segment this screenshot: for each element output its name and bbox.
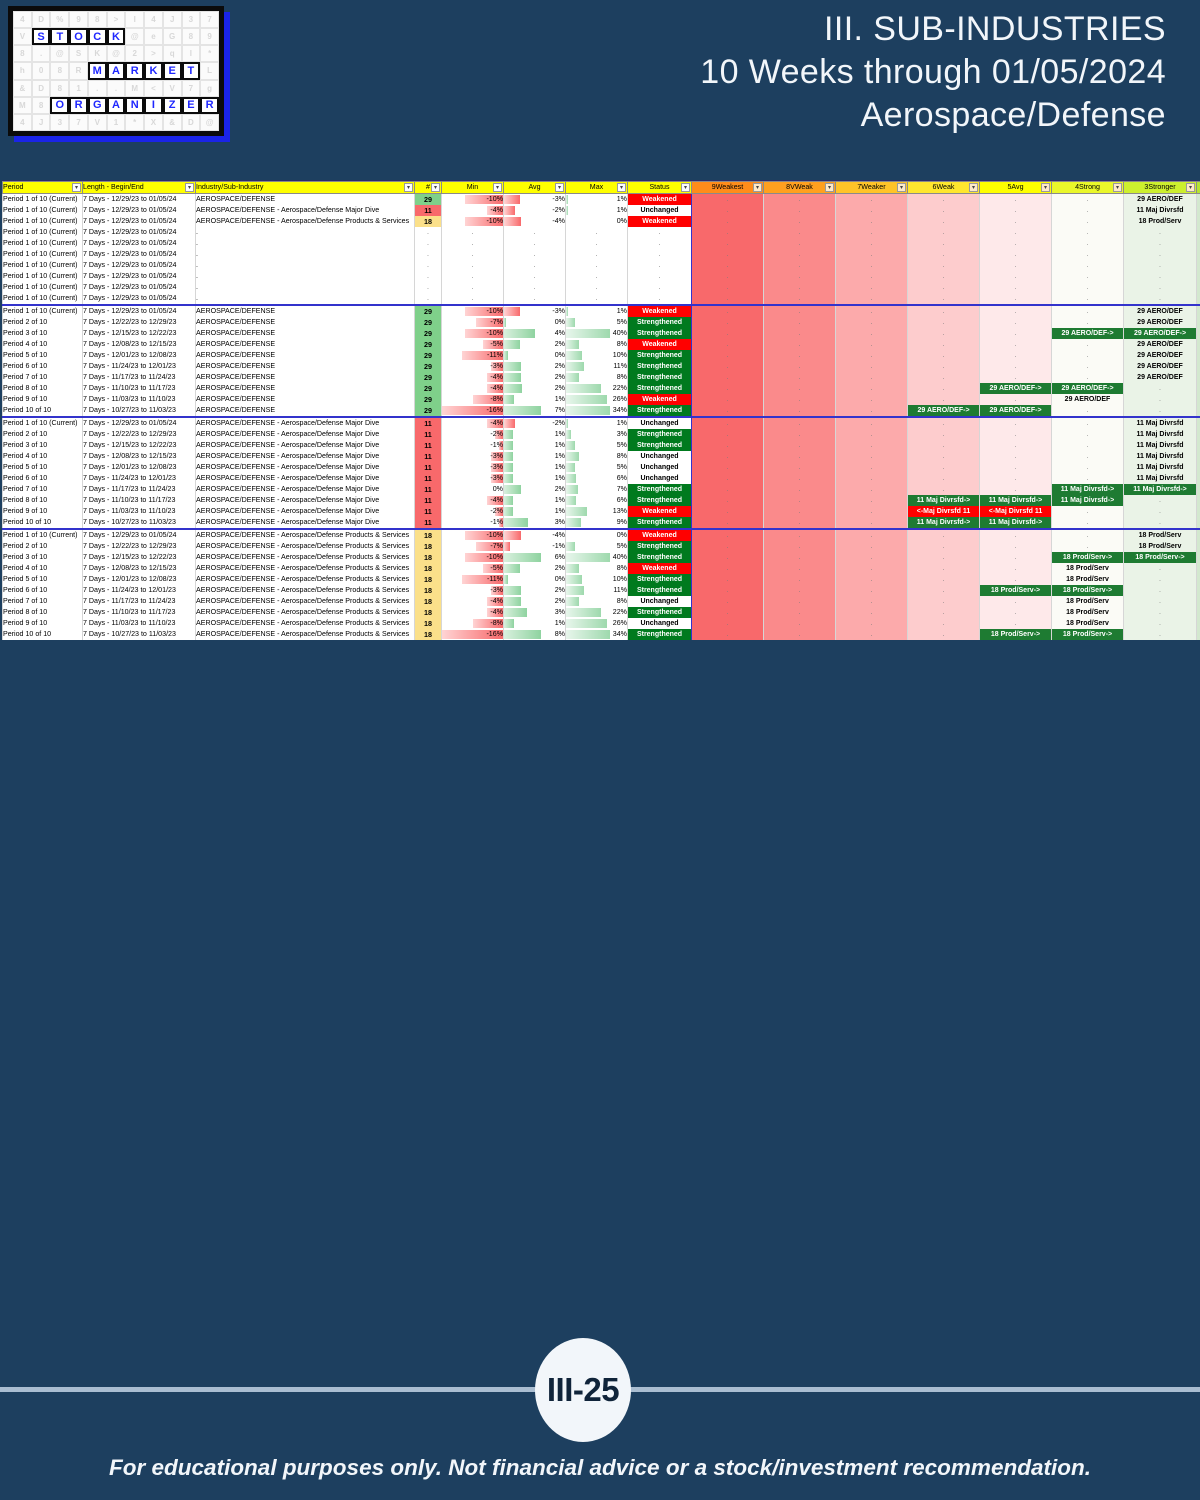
table-row[interactable]: Period 9 of 107 Days - 11/03/23 to 11/10…: [3, 394, 1200, 405]
cell-status: Strengthened: [628, 484, 692, 495]
logo-filler-cell: 9: [69, 11, 88, 28]
cell-status: Strengthened: [628, 607, 692, 618]
strength-cell-s9: .: [692, 260, 764, 271]
status-badge: Strengthened: [628, 552, 691, 563]
filter-dropdown-icon[interactable]: ▾: [897, 183, 906, 192]
strength-cell-s3: .: [1124, 383, 1197, 394]
filter-dropdown-icon[interactable]: ▾: [1041, 183, 1050, 192]
strength-tag: 11 Maj Divrsfd: [1124, 473, 1196, 484]
column-header-industry[interactable]: Industry/Sub-Industry▾: [196, 182, 415, 194]
max-value: 9%: [617, 518, 627, 526]
strength-cell-s2: .: [1197, 440, 1200, 451]
strength-cell-s4: .: [1052, 361, 1124, 372]
strength-cell-s2: .: [1197, 249, 1200, 260]
cell-max: 0%: [566, 529, 628, 541]
cell-min: .: [442, 238, 504, 249]
analysis-table[interactable]: Period▾Length - Begin/End▾Industry/Sub-I…: [2, 181, 1200, 640]
cell-count: 29: [415, 305, 442, 317]
max-data-bar: [566, 575, 582, 584]
logo-filler-cell: h: [13, 62, 32, 79]
status-badge: .: [628, 260, 691, 271]
count-chip: 18: [415, 596, 441, 607]
avg-data-bar: [504, 597, 521, 606]
logo-letter-cell: N: [125, 97, 144, 114]
logo-filler-cell: 7: [200, 11, 219, 28]
column-header-label: 3Stronger: [1144, 183, 1175, 191]
max-value: 5%: [617, 463, 627, 471]
strength-tag: 18 Prod/Serv: [1124, 530, 1196, 541]
count-chip: 18: [415, 618, 441, 629]
column-header-status[interactable]: Status▾: [628, 182, 692, 194]
strength-cell-s6: .: [908, 429, 980, 440]
strength-cell-s6: 29 AERO/DEF->: [908, 405, 980, 417]
cell-max: 13%: [566, 506, 628, 517]
column-header-length[interactable]: Length - Begin/End▾: [83, 182, 196, 194]
cell-industry: AEROSPACE/DEFENSE - Aerospace/Defense Pr…: [196, 529, 415, 541]
logo-filler-cell: *: [125, 114, 144, 131]
strength-cell-s9: .: [692, 484, 764, 495]
strength-cell-s4: 11 Maj Divrsfd->: [1052, 484, 1124, 495]
table-row[interactable]: Period 3 of 107 Days - 12/15/23 to 12/22…: [3, 440, 1200, 451]
strength-cell-s8: .: [764, 394, 836, 405]
spreadsheet-panel[interactable]: Period▾Length - Begin/End▾Industry/Sub-I…: [2, 180, 1198, 640]
table-row[interactable]: Period 1 of 10 (Current)7 Days - 12/29/2…: [3, 417, 1200, 429]
filter-dropdown-icon[interactable]: ▾: [969, 183, 978, 192]
strength-cell-s9: .: [692, 473, 764, 484]
count-chip: 11: [415, 205, 441, 216]
count-chip: .: [415, 282, 441, 293]
count-chip: 29: [415, 350, 441, 361]
strength-cell-s7: .: [836, 216, 908, 227]
strength-cell-s2: .: [1197, 473, 1200, 484]
table-row[interactable]: Period 6 of 107 Days - 11/24/23 to 12/01…: [3, 473, 1200, 484]
strength-tag: 11 Maj Divrsfd->: [980, 517, 1051, 528]
avg-data-bar: [504, 630, 541, 639]
cell-max: 11%: [566, 585, 628, 596]
title-line-period: 10 Weeks through 01/05/2024: [700, 51, 1166, 94]
strength-cell-s5: .: [980, 440, 1052, 451]
status-badge: Strengthened: [628, 350, 691, 361]
table-row[interactable]: Period 1 of 10 (Current)7 Days - 12/29/2…: [3, 305, 1200, 317]
cell-max: 8%: [566, 451, 628, 462]
cell-status: Strengthened: [628, 495, 692, 506]
strength-cell-s8: .: [764, 205, 836, 216]
strength-cell-s6: .: [908, 260, 980, 271]
cell-industry: AEROSPACE/DEFENSE - Aerospace/Defense Ma…: [196, 473, 415, 484]
cell-count: 18: [415, 629, 442, 640]
logo-filler-cell: J: [32, 114, 51, 131]
cell-min: -2%: [442, 429, 504, 440]
table-row[interactable]: Period 6 of 107 Days - 11/24/23 to 12/01…: [3, 361, 1200, 372]
strength-cell-s6: .: [908, 484, 980, 495]
cell-period: Period 4 of 10: [3, 339, 83, 350]
cell-status: Strengthened: [628, 552, 692, 563]
cell-max: 6%: [566, 495, 628, 506]
cell-avg: 8%: [504, 629, 566, 640]
strength-column-header-s3[interactable]: 3Stronger▾: [1124, 182, 1197, 194]
table-row[interactable]: Period 4 of 107 Days - 12/08/23 to 12/15…: [3, 563, 1200, 574]
cell-status: .: [628, 271, 692, 282]
cell-count: .: [415, 249, 442, 260]
strength-tag: 29 AERO/DEF: [1124, 372, 1196, 383]
strength-cell-s7: .: [836, 238, 908, 249]
table-row[interactable]: Period 1 of 10 (Current)7 Days - 12/29/2…: [3, 238, 1200, 249]
avg-value: 1%: [555, 507, 565, 515]
logo-filler-cell: 8: [13, 45, 32, 62]
cell-count: 29: [415, 350, 442, 361]
table-row[interactable]: Period 4 of 107 Days - 12/08/23 to 12/15…: [3, 339, 1200, 350]
cell-period: Period 10 of 10: [3, 629, 83, 640]
strength-tag: 18 Prod/Serv->: [980, 585, 1051, 596]
strength-cell-s6: .: [908, 383, 980, 394]
strength-column-header-s7[interactable]: 7Weaker▾: [836, 182, 908, 194]
strength-tag: 18 Prod/Serv->: [1052, 629, 1123, 640]
cell-max: 8%: [566, 563, 628, 574]
cell-max: 0%: [566, 216, 628, 227]
max-value: 8%: [617, 452, 627, 460]
strength-cell-s4: .: [1052, 451, 1124, 462]
status-badge: Unchanged: [628, 205, 691, 216]
table-row[interactable]: Period 1 of 10 (Current)7 Days - 12/29/2…: [3, 293, 1200, 305]
table-row[interactable]: Period 1 of 10 (Current)7 Days - 12/29/2…: [3, 227, 1200, 238]
column-header-label: 4Strong: [1075, 183, 1100, 191]
cell-count: 18: [415, 585, 442, 596]
table-row[interactable]: Period 6 of 107 Days - 11/24/23 to 12/01…: [3, 585, 1200, 596]
cell-period: Period 1 of 10 (Current): [3, 249, 83, 260]
table-row[interactable]: Period 2 of 107 Days - 12/22/23 to 12/29…: [3, 317, 1200, 328]
cell-status: Weakened: [628, 563, 692, 574]
filter-dropdown-icon[interactable]: ▾: [72, 183, 81, 192]
table-row[interactable]: Period 7 of 107 Days - 11/17/23 to 11/24…: [3, 596, 1200, 607]
cell-industry: AEROSPACE/DEFENSE - Aerospace/Defense Ma…: [196, 429, 415, 440]
strength-cell-s3: 29 AERO/DEF: [1124, 350, 1197, 361]
cell-industry: AEROSPACE/DEFENSE: [196, 317, 415, 328]
strength-cell-s8: .: [764, 462, 836, 473]
cell-count: 18: [415, 607, 442, 618]
strength-tag: 29 AERO/DEF: [1124, 306, 1196, 317]
max-value: 1%: [617, 307, 627, 315]
cell-avg: -3%: [504, 305, 566, 317]
cell-max: 8%: [566, 339, 628, 350]
strength-cell-s8: .: [764, 517, 836, 529]
table-row[interactable]: Period 5 of 107 Days - 12/01/23 to 12/08…: [3, 462, 1200, 473]
column-header-label: Avg: [528, 183, 540, 191]
strength-cell-s2: .: [1197, 405, 1200, 417]
cell-max: 1%: [566, 417, 628, 429]
table-row[interactable]: Period 1 of 10 (Current)7 Days - 12/29/2…: [3, 271, 1200, 282]
strength-cell-s3: 11 Maj Divrsfd: [1124, 462, 1197, 473]
table-row[interactable]: Period 3 of 107 Days - 12/15/23 to 12/22…: [3, 328, 1200, 339]
cell-status: Weakened: [628, 339, 692, 350]
status-badge: Weakened: [628, 339, 691, 350]
cell-length: 7 Days - 12/29/23 to 01/05/24: [83, 417, 196, 429]
cell-count: 11: [415, 517, 442, 529]
cell-period: Period 9 of 10: [3, 618, 83, 629]
strength-column-header-s2[interactable]: 2VStrong▾: [1197, 182, 1200, 194]
strength-tag: <-Maj Divrsfd 11: [980, 506, 1051, 517]
status-badge: Strengthened: [628, 607, 691, 618]
cell-industry: AEROSPACE/DEFENSE: [196, 350, 415, 361]
logo-filler-cell: .: [88, 80, 107, 97]
table-row[interactable]: Period 8 of 107 Days - 11/10/23 to 11/17…: [3, 495, 1200, 506]
strength-cell-s9: .: [692, 249, 764, 260]
strength-column-header-s8[interactable]: 8VWeak▾: [764, 182, 836, 194]
strength-cell-s3: 29 AERO/DEF->: [1124, 328, 1197, 339]
avg-data-bar: [504, 206, 515, 215]
strength-column-header-s4[interactable]: 4Strong▾: [1052, 182, 1124, 194]
cell-status: Strengthened: [628, 585, 692, 596]
strength-cell-s9: .: [692, 227, 764, 238]
cell-industry: AEROSPACE/DEFENSE - Aerospace/Defense Ma…: [196, 440, 415, 451]
table-row[interactable]: Period 7 of 107 Days - 11/17/23 to 11/24…: [3, 372, 1200, 383]
strength-cell-s6: .: [908, 585, 980, 596]
strength-cell-s9: .: [692, 350, 764, 361]
cell-max: 11%: [566, 361, 628, 372]
min-value: -5%: [490, 564, 503, 572]
cell-count: 11: [415, 440, 442, 451]
filter-dropdown-icon[interactable]: ▾: [1186, 183, 1195, 192]
status-badge: Strengthened: [628, 361, 691, 372]
table-row[interactable]: Period 10 of 107 Days - 10/27/23 to 11/0…: [3, 405, 1200, 417]
max-value: 11%: [613, 586, 627, 594]
strength-cell-s2: .: [1197, 328, 1200, 339]
cell-period: Period 7 of 10: [3, 484, 83, 495]
avg-value: -2%: [552, 206, 565, 214]
logo-filler-cell: M: [13, 97, 32, 114]
status-badge: Weakened: [628, 306, 691, 317]
column-header-label: Max: [590, 183, 603, 191]
cell-avg: 2%: [504, 339, 566, 350]
header-row[interactable]: Period▾Length - Begin/End▾Industry/Sub-I…: [3, 182, 1200, 194]
max-value: 5%: [617, 542, 627, 550]
cell-max: 34%: [566, 405, 628, 417]
cell-length: 7 Days - 11/17/23 to 11/24/23: [83, 372, 196, 383]
strength-cell-s6: .: [908, 271, 980, 282]
cell-industry: .: [196, 282, 415, 293]
cell-period: Period 3 of 10: [3, 440, 83, 451]
column-header-period[interactable]: Period▾: [3, 182, 83, 194]
count-chip: 18: [415, 563, 441, 574]
strength-cell-s3: .: [1124, 596, 1197, 607]
table-row[interactable]: Period 1 of 10 (Current)7 Days - 12/29/2…: [3, 194, 1200, 206]
table-row[interactable]: Period 2 of 107 Days - 12/22/23 to 12/29…: [3, 541, 1200, 552]
table-row[interactable]: Period 2 of 107 Days - 12/22/23 to 12/29…: [3, 429, 1200, 440]
strength-cell-s7: .: [836, 383, 908, 394]
table-row[interactable]: Period 1 of 10 (Current)7 Days - 12/29/2…: [3, 249, 1200, 260]
strength-cell-s4: 18 Prod/Serv->: [1052, 629, 1124, 640]
cell-industry: AEROSPACE/DEFENSE: [196, 339, 415, 350]
status-badge: Unchanged: [628, 451, 691, 462]
filter-dropdown-icon[interactable]: ▾: [681, 183, 690, 192]
strength-tag: 11 Maj Divrsfd->: [1052, 495, 1123, 506]
strength-cell-s4: 18 Prod/Serv: [1052, 563, 1124, 574]
cell-count: 18: [415, 541, 442, 552]
status-badge: Strengthened: [628, 574, 691, 585]
strength-cell-s2: .: [1197, 293, 1200, 305]
logo-letter-cell: O: [69, 28, 88, 45]
logo-filler-cell: D: [182, 114, 201, 131]
cell-industry: AEROSPACE/DEFENSE - Aerospace/Defense Ma…: [196, 495, 415, 506]
strength-cell-s4: .: [1052, 517, 1124, 529]
cell-length: 7 Days - 12/01/23 to 12/08/23: [83, 350, 196, 361]
cell-min: -5%: [442, 563, 504, 574]
strength-tag: 18 Prod/Serv->: [980, 629, 1051, 640]
table-row[interactable]: Period 9 of 107 Days - 11/03/23 to 11/10…: [3, 506, 1200, 517]
cell-min: -1%: [442, 440, 504, 451]
strength-cell-s3: 29 AERO/DEF: [1124, 317, 1197, 328]
count-chip: 11: [415, 473, 441, 484]
strength-tag: 18 Prod/Serv->: [1052, 552, 1123, 563]
strength-cell-s6: .: [908, 596, 980, 607]
strength-column-header-s5[interactable]: 5Avg▾: [980, 182, 1052, 194]
avg-data-bar: [504, 496, 513, 505]
cell-length: 7 Days - 11/17/23 to 11/24/23: [83, 484, 196, 495]
strength-column-header-s6[interactable]: 6Weak▾: [908, 182, 980, 194]
count-chip: 29: [415, 405, 441, 416]
min-value: -4%: [490, 496, 503, 504]
logo-filler-cell: M: [125, 80, 144, 97]
table-row[interactable]: Period 1 of 10 (Current)7 Days - 12/29/2…: [3, 260, 1200, 271]
cell-max: 7%: [566, 484, 628, 495]
table-row[interactable]: Period 5 of 107 Days - 12/01/23 to 12/08…: [3, 574, 1200, 585]
table-body[interactable]: Period 1 of 10 (Current)7 Days - 12/29/2…: [3, 194, 1200, 641]
strength-cell-s9: .: [692, 495, 764, 506]
filter-dropdown-icon[interactable]: ▾: [825, 183, 834, 192]
cell-status: Strengthened: [628, 541, 692, 552]
status-badge: Unchanged: [628, 462, 691, 473]
strength-cell-s2: .: [1197, 618, 1200, 629]
cell-count: 18: [415, 574, 442, 585]
column-header-min[interactable]: Min▾: [442, 182, 504, 194]
cell-industry: AEROSPACE/DEFENSE: [196, 372, 415, 383]
cell-avg: -4%: [504, 529, 566, 541]
cell-avg: 1%: [504, 506, 566, 517]
avg-value: 1%: [555, 430, 565, 438]
table-row[interactable]: Period 10 of 107 Days - 10/27/23 to 11/0…: [3, 629, 1200, 640]
status-badge: .: [628, 227, 691, 238]
cell-status: Unchanged: [628, 618, 692, 629]
min-value: -11%: [487, 575, 503, 583]
filter-dropdown-icon[interactable]: ▾: [431, 183, 440, 192]
avg-data-bar: [504, 452, 513, 461]
logo-filler-cell: V: [13, 28, 32, 45]
cell-min: -2%: [442, 506, 504, 517]
strength-cell-s8: .: [764, 350, 836, 361]
strength-tag: 11 Maj Divrsfd->: [908, 517, 979, 528]
cell-period: Period 4 of 10: [3, 563, 83, 574]
cell-status: Unchanged: [628, 417, 692, 429]
logo-letter-cell: R: [125, 62, 144, 79]
strength-cell-s2: .: [1197, 282, 1200, 293]
cell-count: 11: [415, 473, 442, 484]
filter-dropdown-icon[interactable]: ▾: [404, 183, 413, 192]
table-row[interactable]: Period 5 of 107 Days - 12/01/23 to 12/08…: [3, 350, 1200, 361]
cell-industry: AEROSPACE/DEFENSE - Aerospace/Defense Pr…: [196, 618, 415, 629]
logo-filler-cell: 0: [32, 62, 51, 79]
strength-cell-s3: .: [1124, 293, 1197, 305]
strength-cell-s9: .: [692, 361, 764, 372]
strength-cell-s6: .: [908, 305, 980, 317]
filter-dropdown-icon[interactable]: ▾: [493, 183, 502, 192]
table-row[interactable]: Period 8 of 107 Days - 11/10/23 to 11/17…: [3, 383, 1200, 394]
cell-count: 18: [415, 618, 442, 629]
avg-data-bar: [504, 619, 514, 628]
count-chip: 18: [415, 541, 441, 552]
table-row[interactable]: Period 1 of 10 (Current)7 Days - 12/29/2…: [3, 529, 1200, 541]
table-row[interactable]: Period 1 of 10 (Current)7 Days - 12/29/2…: [3, 282, 1200, 293]
table-row[interactable]: Period 1 of 10 (Current)7 Days - 12/29/2…: [3, 216, 1200, 227]
strength-cell-s5: .: [980, 194, 1052, 206]
cell-count: .: [415, 227, 442, 238]
logo-filler-cell: @: [200, 114, 219, 131]
cell-length: 7 Days - 12/29/23 to 01/05/24: [83, 194, 196, 206]
cell-status: Strengthened: [628, 383, 692, 394]
cell-period: Period 1 of 10 (Current): [3, 260, 83, 271]
column-header-max[interactable]: Max▾: [566, 182, 628, 194]
filter-dropdown-icon[interactable]: ▾: [555, 183, 564, 192]
table-row[interactable]: Period 9 of 107 Days - 11/03/23 to 11/10…: [3, 618, 1200, 629]
cell-count: 18: [415, 563, 442, 574]
cell-industry: AEROSPACE/DEFENSE: [196, 305, 415, 317]
table-row[interactable]: Period 7 of 107 Days - 11/17/23 to 11/24…: [3, 484, 1200, 495]
min-value: -7%: [490, 318, 503, 326]
table-row[interactable]: Period 4 of 107 Days - 12/08/23 to 12/15…: [3, 451, 1200, 462]
status-badge: Weakened: [628, 394, 691, 405]
max-value: 34%: [613, 630, 627, 638]
max-data-bar: [566, 441, 575, 450]
strength-cell-s4: .: [1052, 506, 1124, 517]
strength-cell-s4: 18 Prod/Serv: [1052, 618, 1124, 629]
min-value: -16%: [486, 406, 503, 414]
strength-cell-s6: .: [908, 227, 980, 238]
status-badge: Strengthened: [628, 317, 691, 328]
strength-tag: 18 Prod/Serv->: [1124, 552, 1196, 563]
cell-industry: AEROSPACE/DEFENSE: [196, 361, 415, 372]
cell-industry: AEROSPACE/DEFENSE: [196, 194, 415, 206]
strength-cell-s9: .: [692, 394, 764, 405]
column-header-avg[interactable]: Avg▾: [504, 182, 566, 194]
cell-avg: 0%: [504, 317, 566, 328]
filter-dropdown-icon[interactable]: ▾: [617, 183, 626, 192]
strength-cell-s7: .: [836, 541, 908, 552]
strength-tag: 29 AERO/DEF: [1124, 317, 1196, 328]
filter-dropdown-icon[interactable]: ▾: [185, 183, 194, 192]
table-row[interactable]: Period 8 of 107 Days - 11/10/23 to 11/17…: [3, 607, 1200, 618]
table-row[interactable]: Period 1 of 10 (Current)7 Days - 12/29/2…: [3, 205, 1200, 216]
table-row[interactable]: Period 3 of 107 Days - 12/15/23 to 12/22…: [3, 552, 1200, 563]
strength-cell-s3: .: [1124, 563, 1197, 574]
cell-length: 7 Days - 12/29/23 to 01/05/24: [83, 293, 196, 305]
cell-min: .: [442, 260, 504, 271]
avg-data-bar: [504, 362, 521, 371]
filter-dropdown-icon[interactable]: ▾: [753, 183, 762, 192]
cell-avg: 2%: [504, 596, 566, 607]
strength-cell-s7: .: [836, 596, 908, 607]
avg-value: 2%: [555, 362, 565, 370]
avg-value: 1%: [555, 395, 565, 403]
strength-cell-s6: .: [908, 238, 980, 249]
strength-tag: 18 Prod/Serv->: [1052, 585, 1123, 596]
strength-column-header-s9[interactable]: 9Weakest▾: [692, 182, 764, 194]
cell-min: -8%: [442, 618, 504, 629]
avg-data-bar: [504, 564, 520, 573]
filter-dropdown-icon[interactable]: ▾: [1113, 183, 1122, 192]
column-header-count[interactable]: #▾: [415, 182, 442, 194]
table-row[interactable]: Period 10 of 107 Days - 10/27/23 to 11/0…: [3, 517, 1200, 529]
avg-data-bar: [504, 542, 510, 551]
logo-letter-cell: R: [200, 97, 219, 114]
strength-cell-s2: .: [1197, 541, 1200, 552]
